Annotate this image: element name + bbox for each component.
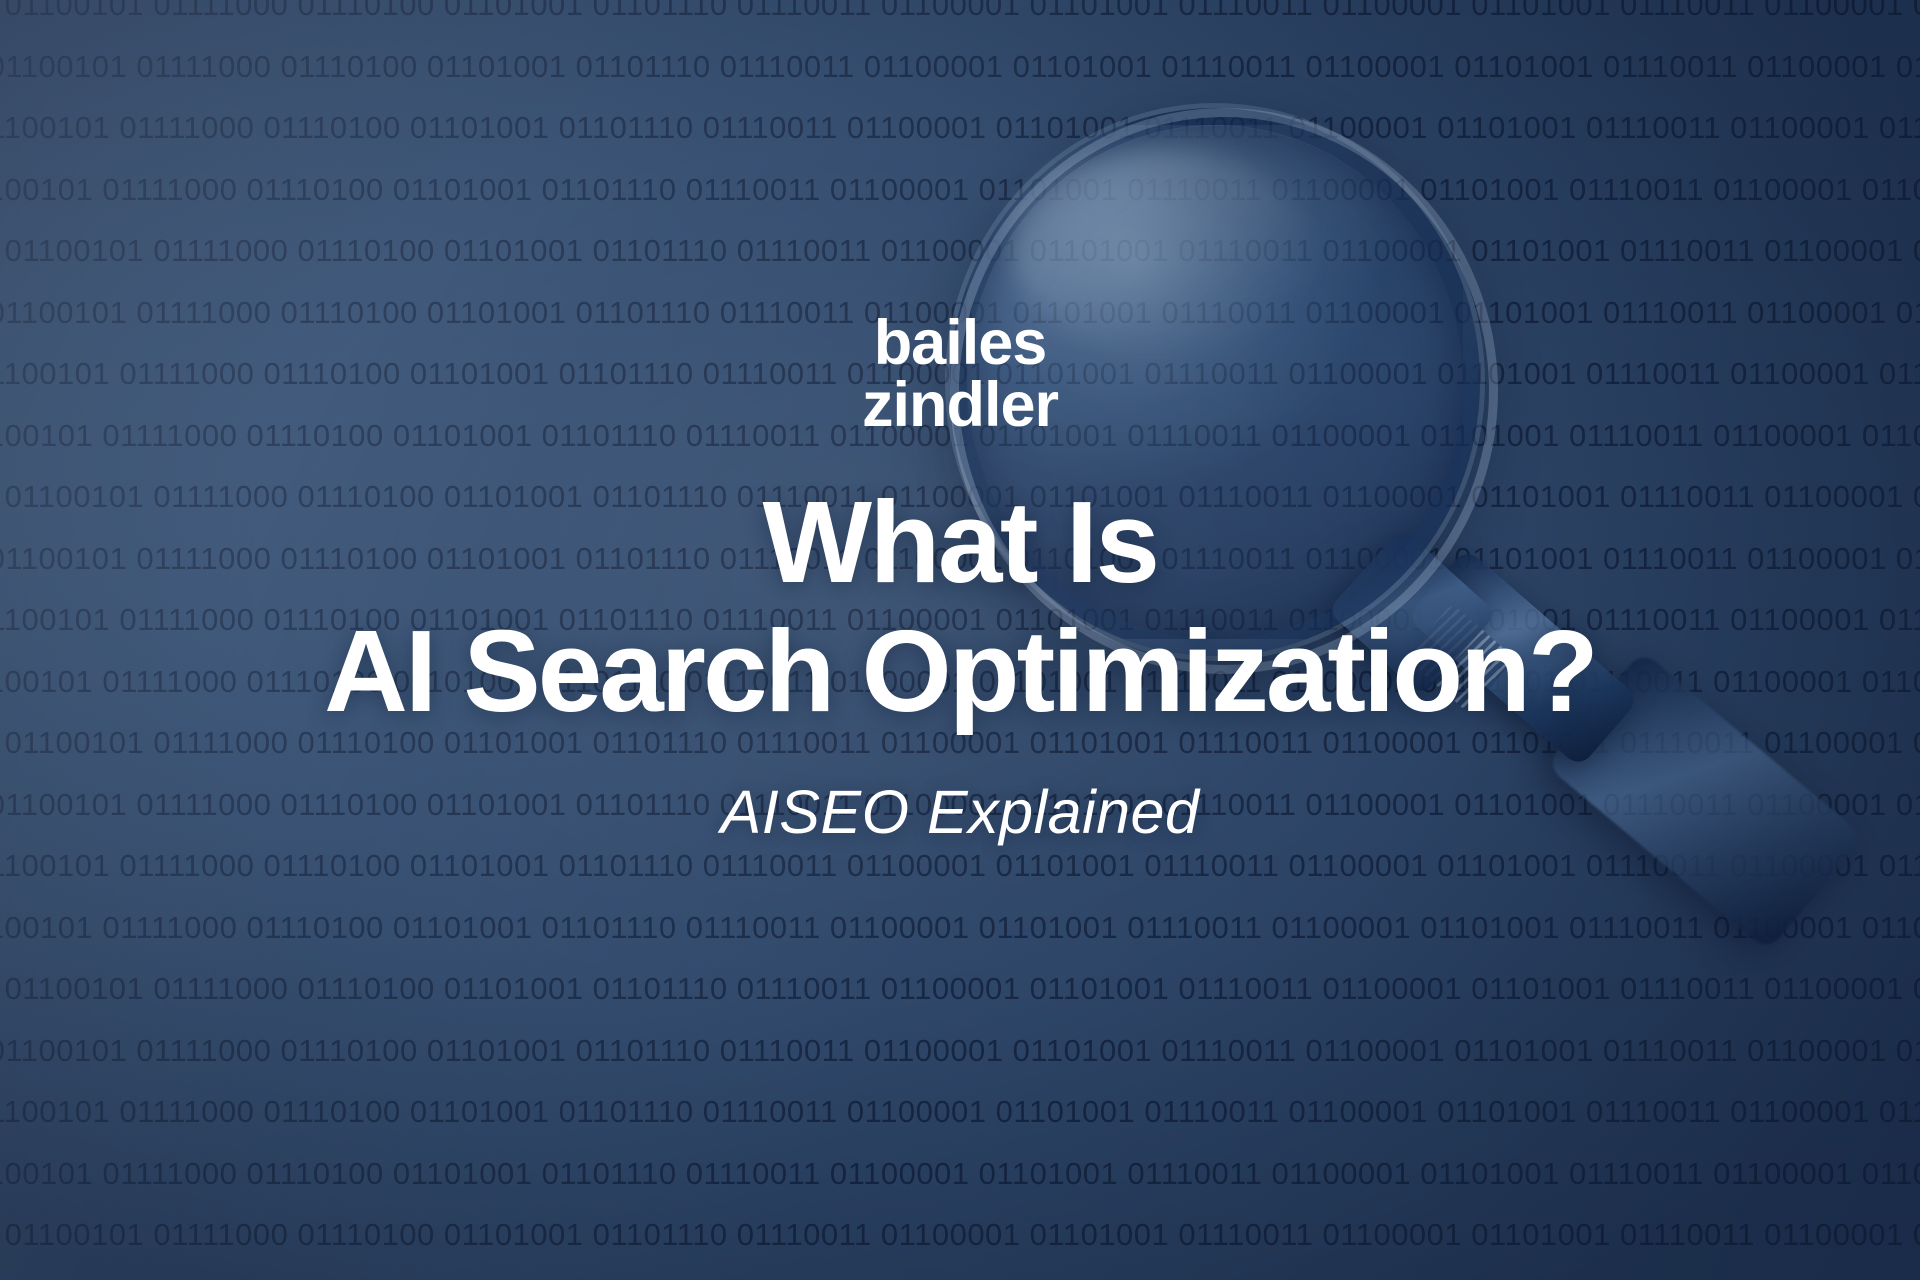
- hero-content: bailes zindler What Is AI Search Optimiz…: [0, 0, 1920, 1280]
- page-subtitle: AISEO Explained: [721, 777, 1200, 847]
- page-title: What Is AI Search Optimization?: [324, 478, 1596, 738]
- headline-line-1: What Is: [324, 478, 1596, 608]
- logo-line-zindler: zindler: [862, 375, 1058, 435]
- brand-logo: bailes zindler: [862, 313, 1058, 436]
- headline-line-2: AI Search Optimization?: [324, 607, 1596, 737]
- logo-line-bailes: bailes: [874, 313, 1047, 373]
- hero-banner: 00 01100101 01111000 01110100 01101001 0…: [0, 0, 1920, 1280]
